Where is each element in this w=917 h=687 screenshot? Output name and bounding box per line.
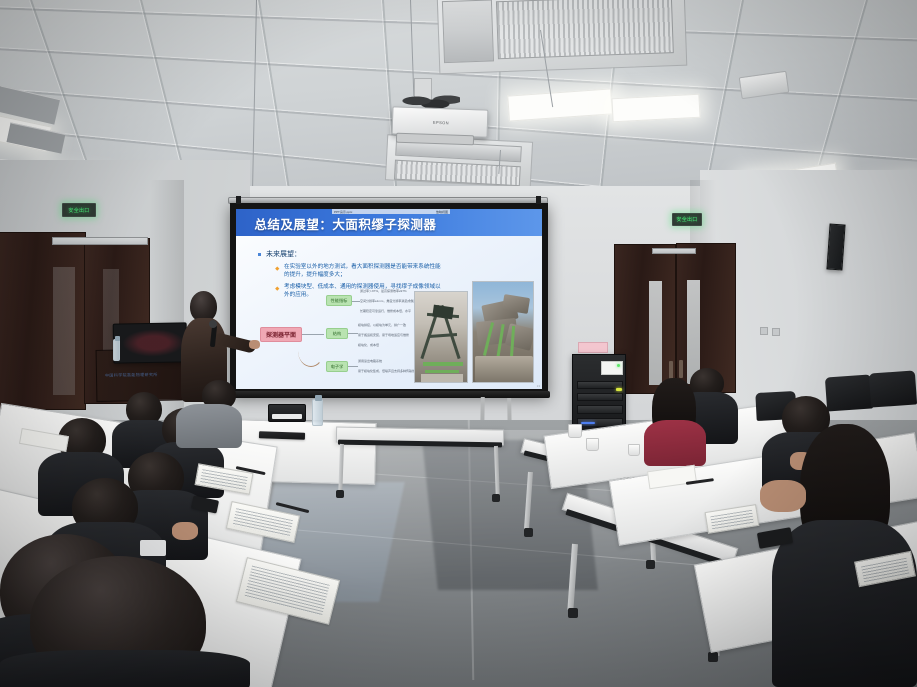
ceiling-device: [739, 71, 790, 99]
bullet-marker: [275, 266, 279, 270]
paper-cup: [568, 424, 582, 438]
empty-chair: [825, 374, 873, 411]
left-door[interactable]: [0, 232, 86, 410]
conference-room-scene: EPSON 安全出口 安全出口: [0, 0, 917, 687]
paper-cup: [586, 438, 599, 451]
water-bottle: [312, 399, 323, 426]
projection-screen-frame: PPT演示.pptx 放映视图 总结及展望：大面积缪子探测器 未来展望： 在实验…: [230, 203, 548, 395]
audience-hand: [172, 522, 198, 540]
ac-cassette-unit: [437, 0, 688, 74]
diagram-leaf: 模块拼接，以模块为单元，拼广一致: [358, 323, 406, 327]
slide-bullet-1: 在实验室以外的地方测试，看大面积探测器是否能带来系统性能的提升，提升幅度多大；: [284, 263, 444, 279]
diagram-node-electronics: 电子学: [326, 361, 348, 372]
exit-sign-right: 安全出口: [672, 213, 702, 226]
diagram-leaf: 易于模块化集成，低噪声且支持多种传输协议: [358, 369, 418, 373]
diagram-leaf: 长期稳定可靠运行，维修成本低，水平: [360, 309, 411, 313]
status-led: [581, 422, 595, 424]
slide-heading-bullet: 未来展望：: [266, 249, 301, 259]
water-bottle: [113, 339, 120, 361]
rack-label: [601, 361, 623, 375]
chrome-view-label: 放映视图: [436, 210, 448, 214]
diagram-leaf: 易于搬运和安装，易于场地适应与维修: [358, 333, 409, 337]
desk-amplifier: [268, 404, 306, 422]
ceiling-light-panel: [507, 88, 613, 121]
presentation-slide: PPT演示.pptx 放映视图 总结及展望：大面积缪子探测器 未来展望： 在实验…: [236, 209, 542, 389]
screen-weight-bar: [228, 391, 550, 398]
left-door-transom: [52, 237, 148, 245]
bullet-marker: [275, 286, 279, 290]
lectern-label: 中国科学院高能物理研究所: [105, 372, 158, 379]
lectern-monitor: [113, 322, 188, 363]
slide-page-number: 13: [537, 384, 540, 388]
audience-arm: [760, 480, 806, 512]
paper-cup: [628, 444, 640, 456]
wall-speaker: [826, 223, 845, 270]
diagram-leaf: 通过率＞97%，最高探测效率≥97%: [360, 289, 407, 293]
bullet-marker: [258, 253, 261, 256]
diagram-leaf: 模块化、成本低: [358, 343, 379, 347]
diagram-branch-curve: [298, 335, 324, 367]
diagram-root-node: 探测器平面: [260, 327, 302, 342]
diagram-leaf: 通用读出电路系统: [358, 359, 382, 363]
slide-photo-detector: [414, 291, 468, 383]
slide-photo-rock: [472, 281, 534, 383]
status-led: [616, 388, 622, 391]
right-door-transom: [652, 248, 696, 254]
wall-notice: [578, 342, 608, 353]
audience-body: [644, 420, 706, 466]
presenter-hand: [249, 340, 260, 349]
exit-sign-label: 安全出口: [68, 207, 89, 214]
exit-sign-left: 安全出口: [62, 203, 96, 217]
projector-brand-label: EPSON: [433, 120, 449, 126]
audience-collar: [140, 540, 166, 556]
slide-title: 总结及展望：大面积缪子探测器: [254, 214, 436, 233]
audience-body-foreground: [0, 650, 250, 687]
diagram-leaf: 空间分辨率≤1mm，角度分辨率满足成像需求: [360, 299, 419, 303]
diagram-node-performance: 性能指标: [326, 295, 352, 306]
diagram-node-structure: 结构: [326, 328, 348, 339]
exit-sign-label: 安全出口: [676, 216, 697, 223]
ceiling-light-panel: [611, 94, 700, 123]
light-switch[interactable]: [760, 327, 768, 335]
light-switch[interactable]: [772, 328, 780, 336]
audience-body: [772, 520, 917, 687]
empty-chair: [869, 370, 917, 407]
audience-body: [176, 404, 242, 448]
microphone-head: [209, 320, 217, 328]
status-led: [617, 364, 620, 367]
diagram-branch-curve: [298, 301, 326, 335]
